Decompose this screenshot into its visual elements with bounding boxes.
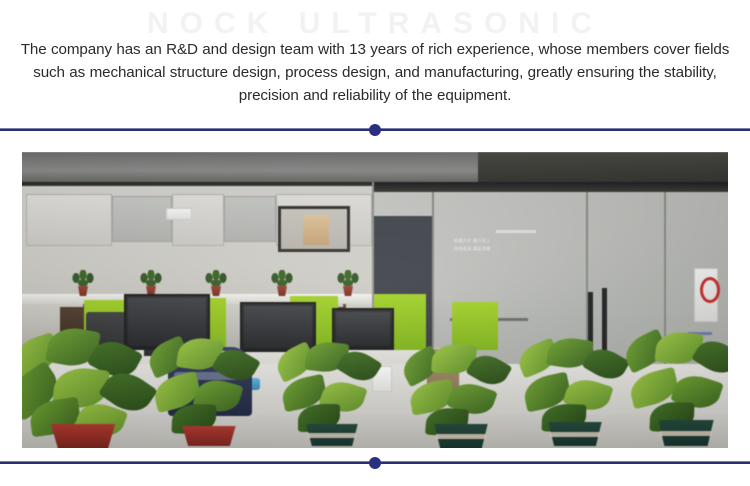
office-photo: 质量方针 客户至上 持续改进 精益求精 办公室 xyxy=(22,152,728,448)
foreground-plant xyxy=(144,338,274,446)
counter-plant xyxy=(205,270,227,296)
ceiling-dark-section xyxy=(478,152,728,182)
glass-sign-line-1: 质量方针 客户至上 xyxy=(454,238,491,244)
divider-dot-top xyxy=(369,124,381,136)
plant-foliage xyxy=(140,270,162,287)
counter-plant xyxy=(337,270,359,296)
plant-foliage xyxy=(274,342,392,417)
plant-pot xyxy=(211,286,221,296)
cabinet-glass-panel xyxy=(224,196,276,242)
pot-label-band xyxy=(436,434,486,439)
counter-plant xyxy=(72,270,94,296)
divider-dot-bottom xyxy=(369,457,381,469)
pot-label-band xyxy=(550,432,600,437)
plant-pot xyxy=(180,426,238,446)
glass-sign-badge xyxy=(496,230,536,233)
plant-foliage xyxy=(400,344,520,419)
plant-foliage xyxy=(271,270,293,287)
foreground-plant xyxy=(514,338,634,446)
plant-foliage xyxy=(622,332,728,414)
foreground-plant xyxy=(274,342,392,446)
wall-framed-picture xyxy=(278,206,350,252)
upper-cabinet xyxy=(172,194,224,246)
section-divider-top xyxy=(0,124,750,136)
pot-label-band xyxy=(308,433,356,438)
plant-foliage xyxy=(514,338,634,416)
glass-sign-line-2: 持续改进 精益求精 xyxy=(454,246,491,252)
fire-safety-sign xyxy=(694,268,718,322)
cabinet-glass-panel xyxy=(112,196,172,242)
foreground-plant xyxy=(622,332,728,446)
plant-foliage xyxy=(337,270,359,287)
pot-label-band xyxy=(660,431,712,436)
office-photo-scene: 质量方针 客户至上 持续改进 精益求精 办公室 xyxy=(22,152,728,448)
plant-pot xyxy=(343,286,353,296)
plant-pot xyxy=(78,286,88,296)
plant-foliage xyxy=(144,338,274,416)
upper-cabinet xyxy=(26,194,112,246)
intro-paragraph: The company has an R&D and design team w… xyxy=(14,38,736,107)
plant-pot xyxy=(48,424,118,448)
plant-foliage xyxy=(205,270,227,287)
plant-foliage xyxy=(72,270,94,287)
section-divider-bottom xyxy=(0,457,750,469)
intro-block: The company has an R&D and design team w… xyxy=(14,38,736,107)
company-watermark: NOCK ULTRASONIC xyxy=(0,6,750,42)
plant-pot xyxy=(277,286,287,296)
counter-plant xyxy=(140,270,162,296)
green-partition-panel xyxy=(452,302,498,350)
counter-plant xyxy=(271,270,293,296)
wall-sign xyxy=(166,208,192,220)
foreground-plant xyxy=(400,344,520,448)
monitor-screen xyxy=(336,312,390,346)
